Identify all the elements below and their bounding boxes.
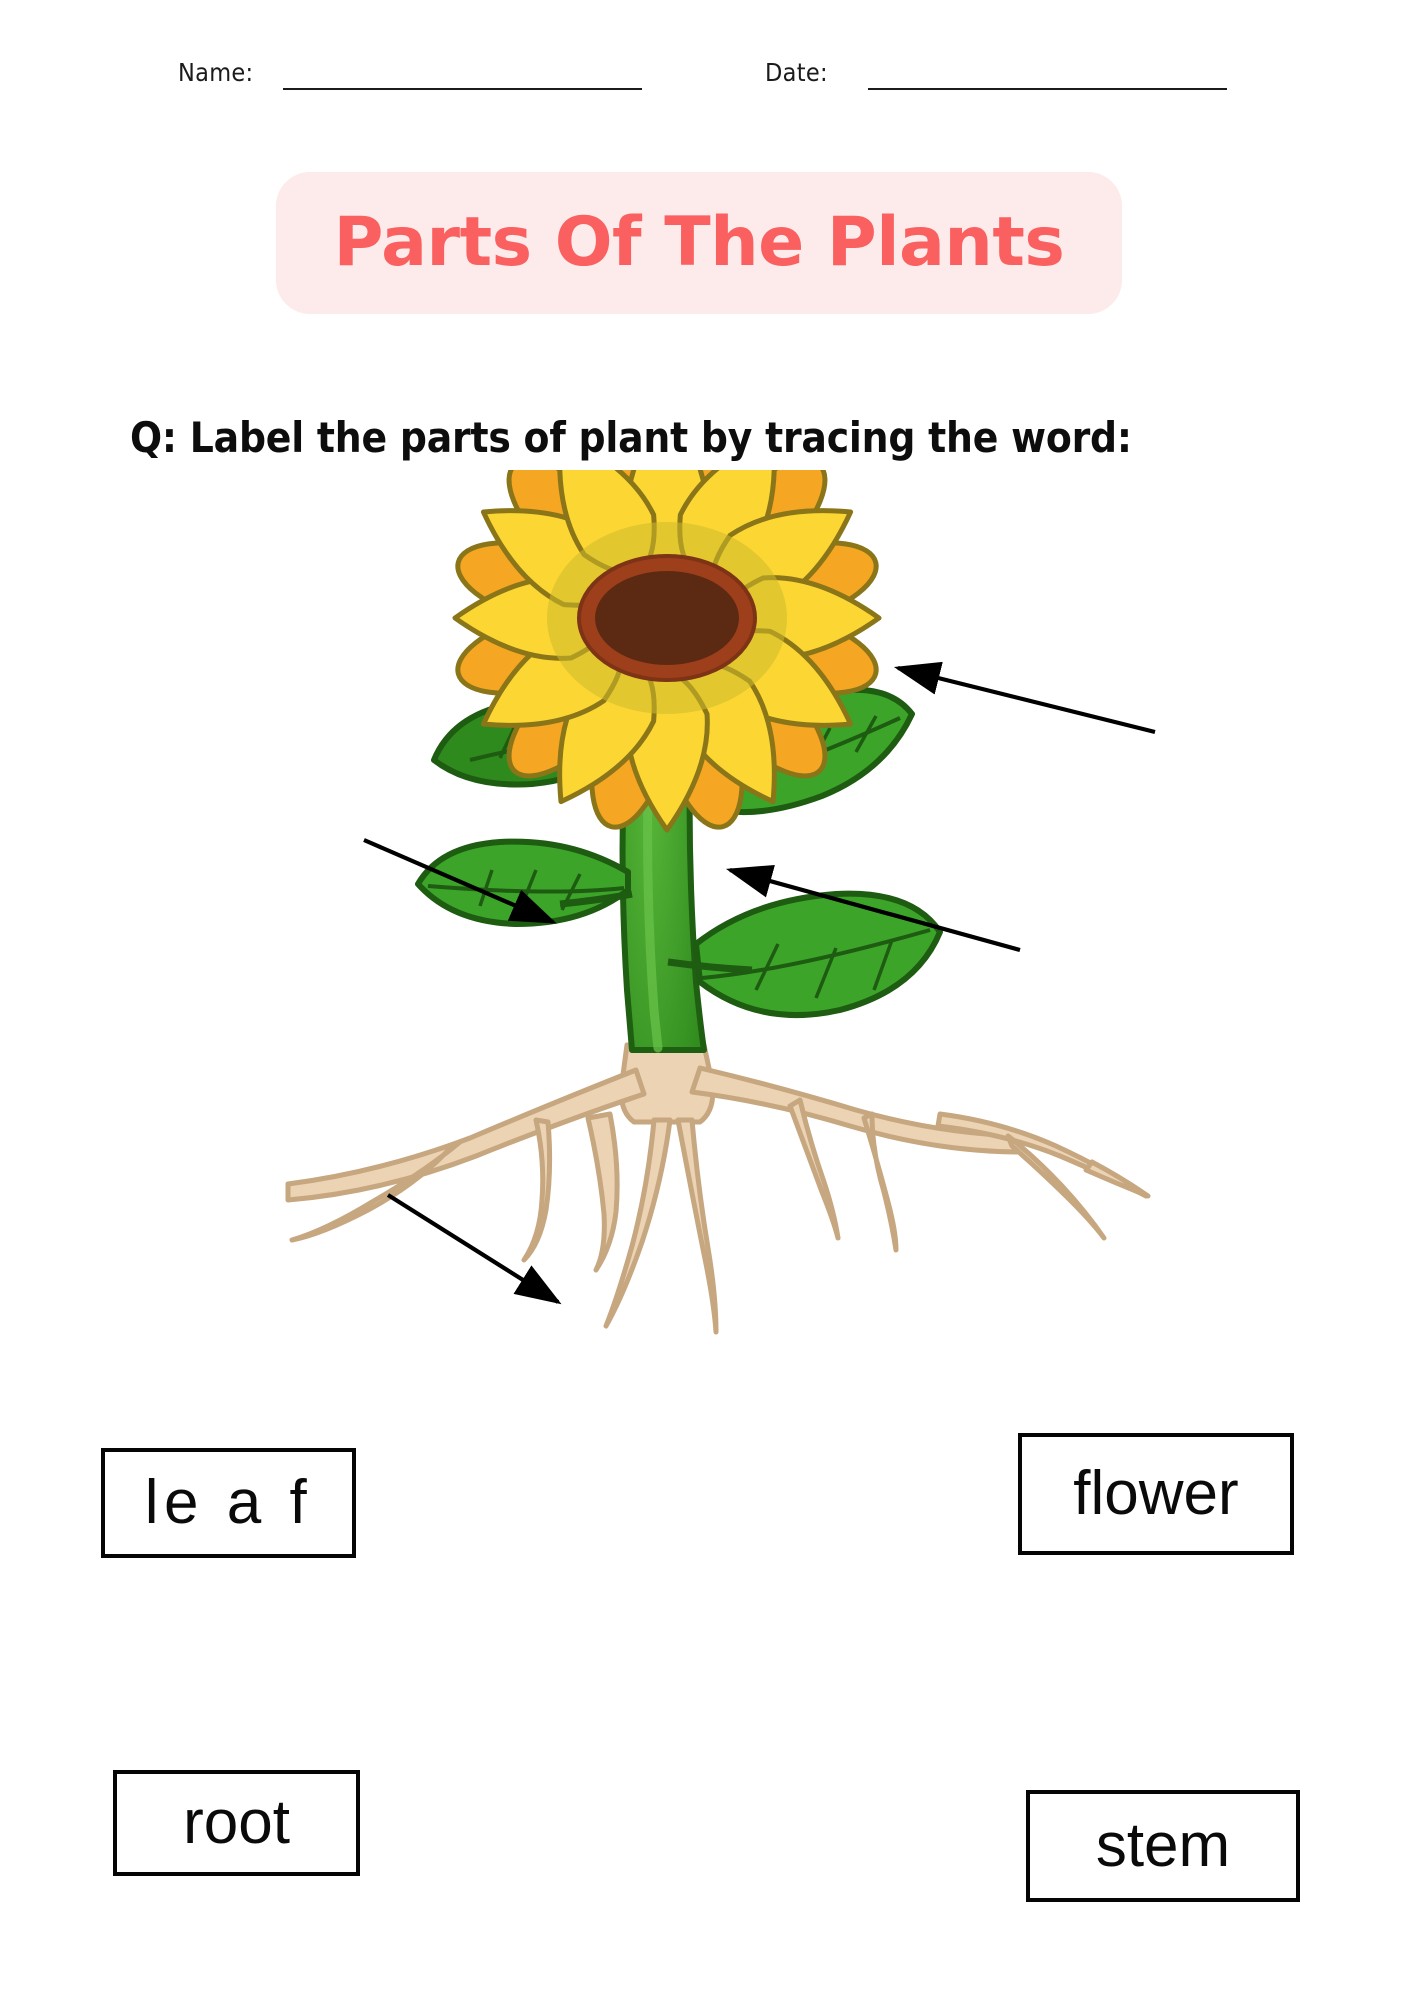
label-box-stem[interactable]: stem bbox=[1026, 1790, 1300, 1902]
name-input-line[interactable] bbox=[283, 88, 642, 90]
header-fields: Name: Date: bbox=[0, 58, 1414, 108]
plant-diagram: le a f flower root stem bbox=[0, 470, 1414, 1630]
flower-disc-center bbox=[595, 571, 739, 665]
label-text-stem: stem bbox=[1096, 1815, 1230, 1877]
label-box-flower[interactable]: flower bbox=[1018, 1433, 1294, 1555]
root-system bbox=[288, 1045, 1148, 1332]
date-field-label: Date: bbox=[765, 58, 828, 88]
label-text-flower: flower bbox=[1073, 1463, 1238, 1525]
name-field-label: Name: bbox=[178, 58, 253, 88]
label-text-leaf: le a f bbox=[145, 1472, 312, 1534]
label-box-root[interactable]: root bbox=[113, 1770, 360, 1876]
leaf-lower-right bbox=[668, 894, 940, 1015]
page-title: Parts Of The Plants bbox=[334, 209, 1065, 277]
question-prompt: Q: Label the parts of plant by tracing t… bbox=[130, 412, 1310, 464]
date-input-line[interactable] bbox=[868, 88, 1227, 90]
title-banner: Parts Of The Plants bbox=[276, 172, 1122, 314]
arrow-to-flower bbox=[898, 668, 1155, 732]
worksheet-page: Name: Date: Parts Of The Plants Q: Label… bbox=[0, 0, 1414, 2000]
label-box-leaf[interactable]: le a f bbox=[101, 1448, 356, 1558]
label-text-root: root bbox=[183, 1792, 290, 1854]
